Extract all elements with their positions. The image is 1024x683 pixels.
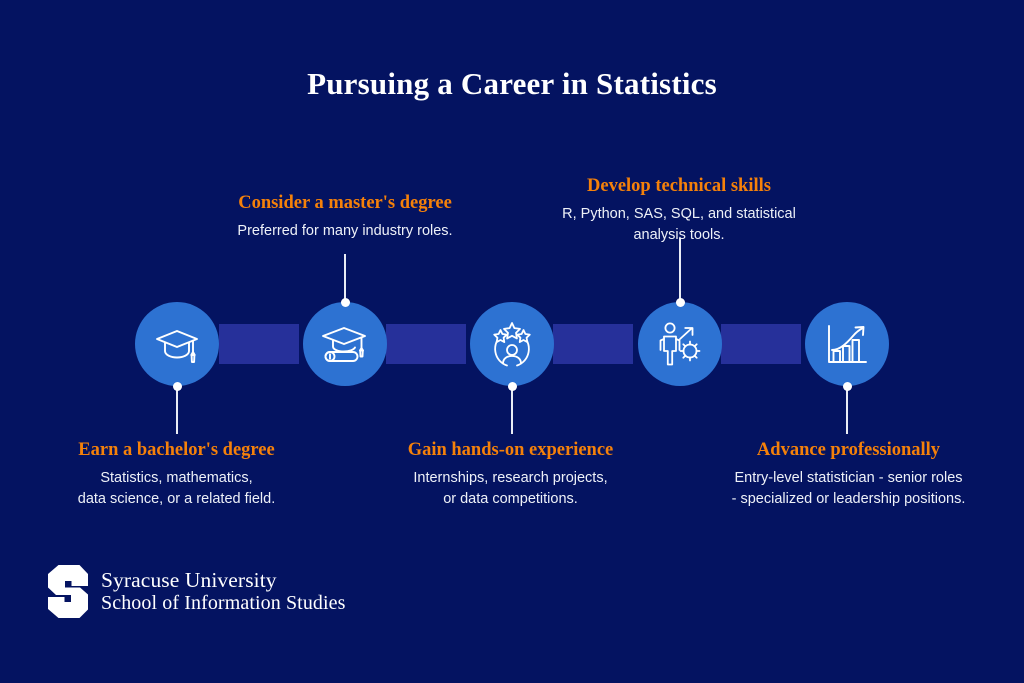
connector-bar-1 [219, 324, 299, 364]
stem-dot-masters [341, 298, 350, 307]
logo-university-name: Syracuse University [101, 568, 346, 592]
infographic-canvas: Pursuing a Career in Statistics [0, 0, 1024, 683]
stem-masters [344, 254, 346, 302]
stem-experience [511, 386, 513, 434]
callout-heading-experience: Gain hands-on experience [362, 439, 659, 462]
page-title: Pursuing a Career in Statistics [0, 66, 1024, 102]
callout-technical-skills: Develop technical skills R, Python, SAS,… [528, 175, 830, 246]
growth-chart-icon [822, 319, 872, 369]
callout-body-experience: Internships, research projects, or data … [362, 468, 659, 510]
callout-body-masters: Preferred for many industry roles. [186, 221, 504, 242]
callout-body-advance: Entry-level statistician - senior roles … [700, 468, 997, 510]
callout-advance: Advance professionally Entry-level stati… [700, 439, 997, 510]
connector-bar-3 [553, 324, 633, 364]
timeline-track [0, 302, 1024, 386]
person-stars-icon [487, 319, 537, 369]
timeline-node-bachelors[interactable] [135, 302, 219, 386]
callout-bachelors: Earn a bachelor's degree Statistics, mat… [28, 439, 325, 510]
callout-experience: Gain hands-on experience Internships, re… [362, 439, 659, 510]
stem-advance [846, 386, 848, 434]
callout-body-bachelors: Statistics, mathematics, data science, o… [28, 468, 325, 510]
stem-dot-advance [843, 382, 852, 391]
stem-dot-experience [508, 382, 517, 391]
timeline-node-masters[interactable] [303, 302, 387, 386]
syracuse-logo-text: Syracuse University School of Informatio… [101, 568, 346, 615]
callout-heading-advance: Advance professionally [700, 439, 997, 462]
stem-technical-skills [679, 238, 681, 302]
syracuse-block-s-icon [48, 565, 88, 618]
timeline-node-experience[interactable] [470, 302, 554, 386]
connector-bar-4 [721, 324, 801, 364]
timeline-node-advance[interactable] [805, 302, 889, 386]
stem-dot-bachelors [173, 382, 182, 391]
logo-school-name: School of Information Studies [101, 592, 346, 615]
callout-heading-masters: Consider a master's degree [186, 192, 504, 215]
person-gear-arrow-icon [655, 319, 705, 369]
callout-masters: Consider a master's degree Preferred for… [186, 192, 504, 242]
stem-bachelors [176, 386, 178, 434]
callout-heading-technical-skills: Develop technical skills [528, 175, 830, 198]
syracuse-logo: Syracuse University School of Informatio… [48, 565, 346, 618]
callout-heading-bachelors: Earn a bachelor's degree [28, 439, 325, 462]
graduation-cap-diploma-icon [320, 319, 370, 369]
graduation-cap-icon [152, 319, 202, 369]
stem-dot-technical-skills [676, 298, 685, 307]
callout-body-technical-skills: R, Python, SAS, SQL, and statistical ana… [528, 204, 830, 246]
timeline-node-technical-skills[interactable] [638, 302, 722, 386]
connector-bar-2 [386, 324, 466, 364]
